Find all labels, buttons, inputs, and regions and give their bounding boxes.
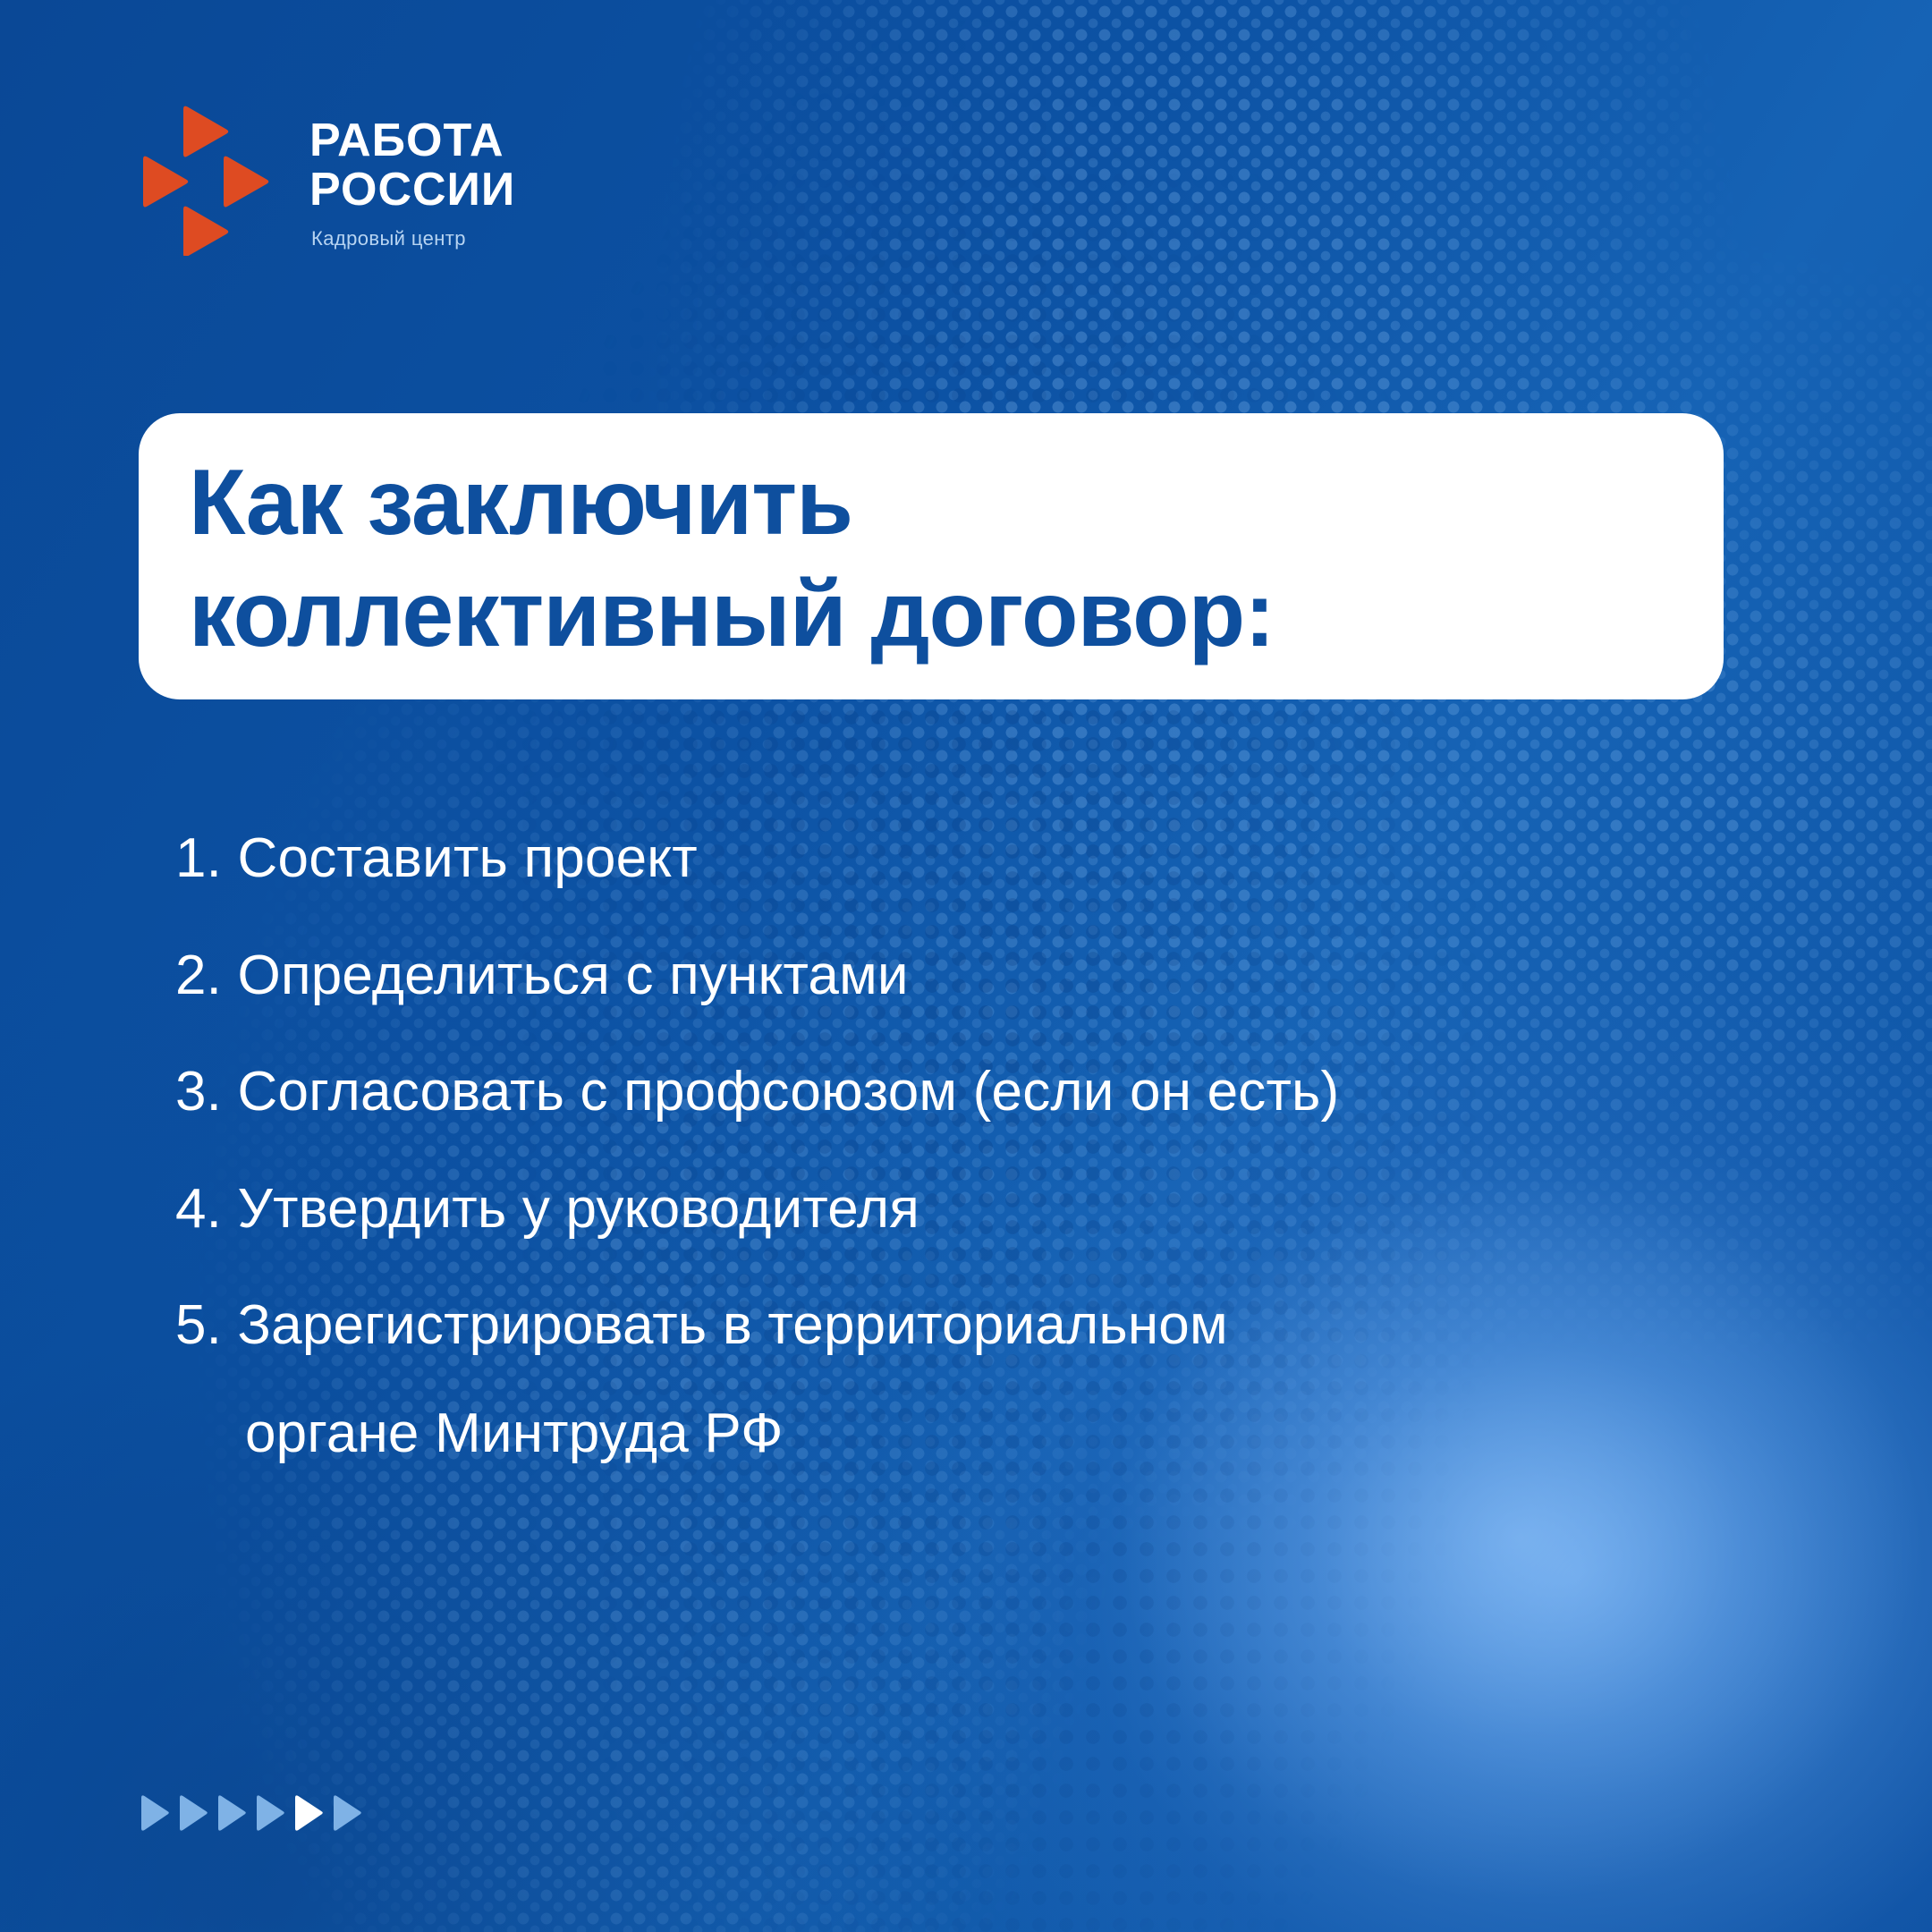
step-text: 5. Зарегистрировать в территориальном [175,1294,1228,1356]
chevron-right-triangle-icon[interactable] [255,1794,285,1832]
brand-name-line-2: РОССИИ [309,165,515,215]
chevron-right-triangle-icon-active[interactable] [293,1794,324,1832]
list-item: 1. Составить проект [175,823,1857,895]
list-item: 3. Согласовать с профсоюзом (если он ест… [175,1056,1857,1129]
list-item: 5. Зарегистрировать в территориальном ор… [175,1290,1857,1470]
rabota-rossii-four-triangles-icon [141,106,277,256]
title-card: Как заключить коллективный договор: [139,413,1724,699]
chevron-right-triangle-icon[interactable] [332,1794,362,1832]
list-item: 2. Определиться с пунктами [175,940,1857,1013]
page-indicator[interactable] [140,1794,362,1832]
page-title-line-2: коллективный договор: [189,559,1674,671]
chevron-right-triangle-icon[interactable] [216,1794,247,1832]
steps-list: 1. Составить проект 2. Определиться с пу… [175,823,1857,1515]
page-title-line-1: Как заключить [189,447,1674,559]
brand-wordmark: РАБОТА РОССИИ Кадровый центр [309,111,515,250]
step-text: 4. Утвердить у руководителя [175,1178,919,1240]
step-text: 3. Согласовать с профсоюзом (если он ест… [175,1061,1339,1123]
step-text: 1. Составить проект [175,827,698,889]
step-text-continuation: органе Минтруда РФ [245,1398,1857,1470]
list-item: 4. Утвердить у руководителя [175,1174,1857,1246]
brand-tagline: Кадровый центр [311,227,515,250]
chevron-right-triangle-icon[interactable] [178,1794,208,1832]
chevron-right-triangle-icon[interactable] [140,1794,170,1832]
poster-canvas: РАБОТА РОССИИ Кадровый центр Как заключи… [0,0,1932,1932]
brand-logo: РАБОТА РОССИИ Кадровый центр [141,106,515,256]
brand-name-line-1: РАБОТА [309,116,515,165]
step-text: 2. Определиться с пунктами [175,945,909,1006]
